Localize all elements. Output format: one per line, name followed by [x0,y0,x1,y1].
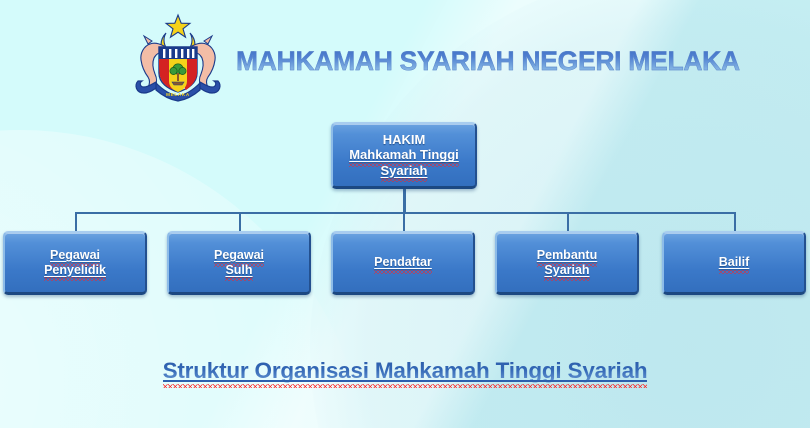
chart-caption-spellcheck-squiggle [163,384,648,388]
org-node-pegawai-penyelidik[interactable]: Pegawai Penyelidik [3,231,147,295]
org-node-pembantu-syariah-text: Pembantu Syariah [537,248,597,277]
connector-drop-5 [734,212,736,233]
connector-drop-3 [403,212,405,233]
connector-drop-1 [75,212,77,233]
connector-horizontal-bus [75,212,736,214]
org-node-pembantu-syariah[interactable]: Pembantu Syariah [495,231,639,295]
melaka-state-crest-icon: MELAKA [128,11,228,103]
org-node-pendaftar-text: Pendaftar [374,255,432,270]
org-node-hakim-line2: Mahkamah Tinggi [349,147,459,162]
org-node-1-line1: Pegawai [50,248,100,263]
org-node-1-line2: Penyelidik [44,263,106,278]
crest-motto-text: MELAKA [166,92,190,97]
org-node-pegawai-sulh[interactable]: Pegawai Sulh [167,231,311,295]
connector-drop-2 [239,212,241,233]
org-node-hakim[interactable]: HAKIM Mahkamah Tinggi Syariah [331,122,477,189]
slide-header: MELAKA MAHKAMAH SYARIAH NEGERI MELAKA [0,0,810,110]
org-node-hakim-line3: Syariah [381,163,428,178]
org-node-2-line1: Pegawai [214,248,264,263]
org-node-hakim-text: HAKIM Mahkamah Tinggi Syariah [349,132,459,177]
org-node-hakim-line1: HAKIM [383,132,426,147]
org-node-bailif-text: Bailif [719,255,750,270]
org-node-pegawai-penyelidik-text: Pegawai Penyelidik [44,248,106,277]
chart-caption: Struktur Organisasi Mahkamah Tinggi Syar… [0,358,810,384]
chart-caption-underline [163,380,648,382]
org-node-2-line2: Sulh [225,263,252,278]
slide-canvas: MELAKA MAHKAMAH SYARIAH NEGERI MELAKA HA… [0,0,810,428]
org-node-4-line1: Pembantu [537,248,597,263]
org-node-4-line2: Syariah [544,263,589,278]
chart-caption-wrapper: Struktur Organisasi Mahkamah Tinggi Syar… [163,358,648,384]
connector-root-stem [403,186,406,214]
org-node-5-line1: Bailif [719,255,750,270]
org-node-pegawai-sulh-text: Pegawai Sulh [214,248,264,277]
connector-drop-4 [567,212,569,233]
org-node-bailif[interactable]: Bailif [662,231,806,295]
page-title: MAHKAMAH SYARIAH NEGERI MELAKA [236,46,740,77]
org-node-pendaftar[interactable]: Pendaftar [331,231,475,295]
org-node-3-line1: Pendaftar [374,255,432,270]
